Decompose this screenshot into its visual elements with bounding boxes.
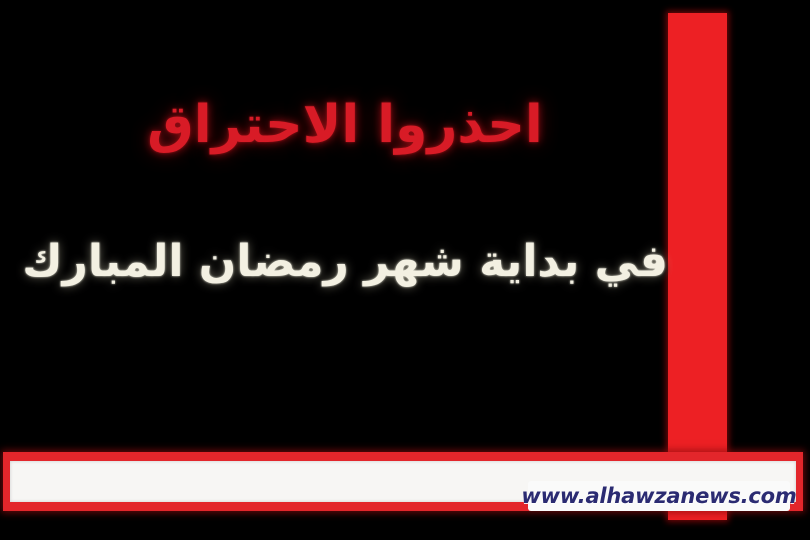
headline-line-2: في بداية شهر رمضان المبارك (36, 228, 668, 296)
banner-image: احذروا الاحتراق في بداية شهر رمضان المبا… (0, 0, 810, 540)
red-vertical-bar-decoration (668, 13, 727, 520)
headline-line-1: احذروا الاحتراق (110, 88, 580, 162)
watermark-url: www.alhawzanews.com (528, 481, 790, 511)
